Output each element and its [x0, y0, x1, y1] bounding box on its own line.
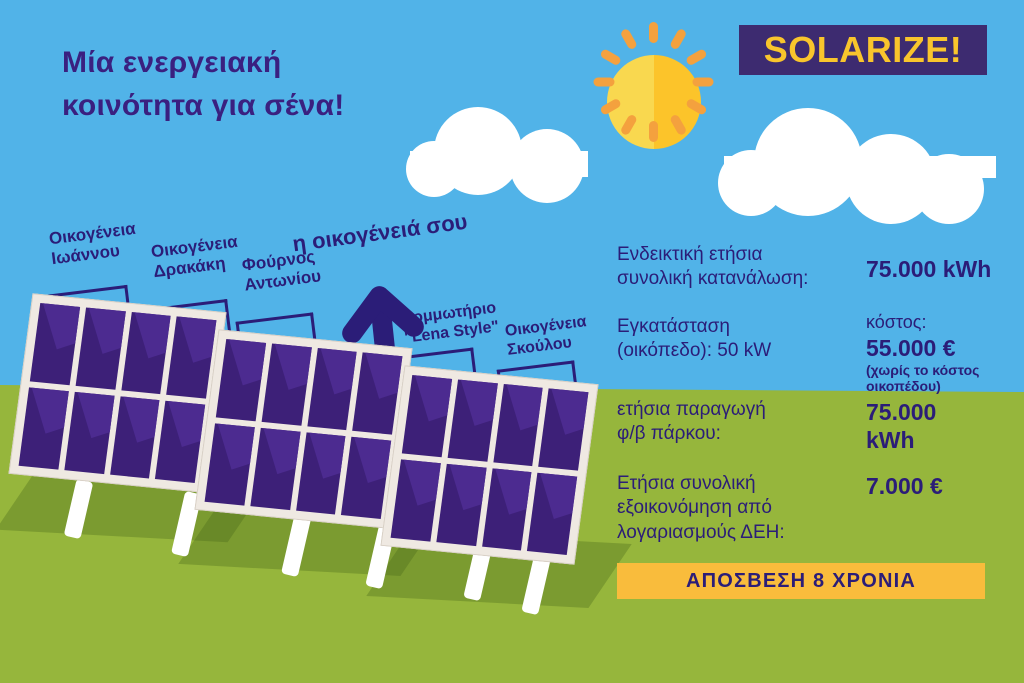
sun-ray: [649, 121, 658, 142]
stat-cost-label: κόστος:: [866, 311, 979, 334]
panel-section-2: [194, 329, 412, 529]
stat-value: 55.000 €: [866, 334, 979, 362]
panel-cell-grid: [205, 339, 403, 519]
panel-cell: [64, 392, 114, 474]
solarize-badge: SOLARIZE!: [739, 25, 987, 75]
stat-note: (χωρίς το κόστος οικοπέδου): [866, 362, 979, 396]
sun-icon: [607, 55, 701, 149]
cloud-base: [410, 151, 588, 177]
stat-installation: Εγκατάσταση (οικόπεδο): 50 kW: [617, 315, 771, 364]
solarize-badge-label: SOLARIZE!: [764, 29, 963, 71]
panel-section-3: [380, 365, 598, 565]
panel-cell: [250, 428, 300, 510]
panel-cell: [447, 379, 497, 461]
infographic-canvas: Μία ενεργειακή κοινότητα για σένα! SOLAR…: [0, 0, 1024, 683]
stat-label: Εγκατάσταση (οικόπεδο): 50 kW: [617, 315, 771, 364]
panel-cell: [121, 312, 171, 394]
stat-label: ετήσια παραγωγή φ/β πάρκου:: [617, 398, 766, 447]
panel-cell: [296, 432, 346, 514]
stat-label: Ετήσια συνολική εξοικονόμηση από λογαρια…: [617, 472, 785, 545]
stat-installation-value: κόστος: 55.000 € (χωρίς το κόστος οικοπέ…: [866, 311, 979, 395]
cloud-right: [718, 108, 1018, 178]
panel-cell: [75, 307, 125, 389]
panel-cell: [482, 468, 532, 550]
cloud-base: [724, 156, 996, 178]
stat-annual-consumption-value: 75.000 kWh: [866, 255, 991, 283]
stat-value: 75.000 kWh: [866, 398, 936, 454]
panel-cell-grid: [391, 375, 589, 555]
stat-label: Ενδεικτική ετήσια συνολική κατανάλωση:: [617, 243, 808, 292]
stat-annual-production-value: 75.000 kWh: [866, 398, 936, 454]
solar-panel-array: [0, 280, 620, 630]
panel-cell: [110, 396, 160, 478]
panel-cell-grid: [19, 303, 217, 483]
payback-banner: ΑΠΟΣΒΕΣΗ 8 ΧΡΟΝΙΑ: [617, 563, 985, 599]
headline: Μία ενεργειακή κοινότητα για σένα!: [62, 42, 482, 127]
stat-value: 75.000 kWh: [866, 255, 991, 283]
headline-line-2: κοινότητα για σένα!: [62, 85, 482, 128]
panel-cell: [307, 348, 357, 430]
stat-annual-savings: Ετήσια συνολική εξοικονόμηση από λογαρια…: [617, 472, 785, 545]
panel-cell: [493, 384, 543, 466]
headline-line-1: Μία ενεργειακή: [62, 42, 482, 85]
stat-annual-consumption: Ενδεικτική ετήσια συνολική κατανάλωση:: [617, 243, 808, 292]
stat-annual-savings-value: 7.000 €: [866, 472, 943, 500]
stat-value: 7.000 €: [866, 472, 943, 500]
panel-cell: [436, 464, 486, 546]
sun-ray: [649, 22, 658, 43]
stat-annual-production: ετήσια παραγωγή φ/β πάρκου:: [617, 398, 766, 447]
sun-ray: [693, 78, 714, 87]
sun-ray: [594, 78, 615, 87]
panel-section-1: [8, 293, 226, 493]
payback-banner-label: ΑΠΟΣΒΕΣΗ 8 ΧΡΟΝΙΑ: [686, 570, 916, 593]
panel-cell: [261, 343, 311, 425]
